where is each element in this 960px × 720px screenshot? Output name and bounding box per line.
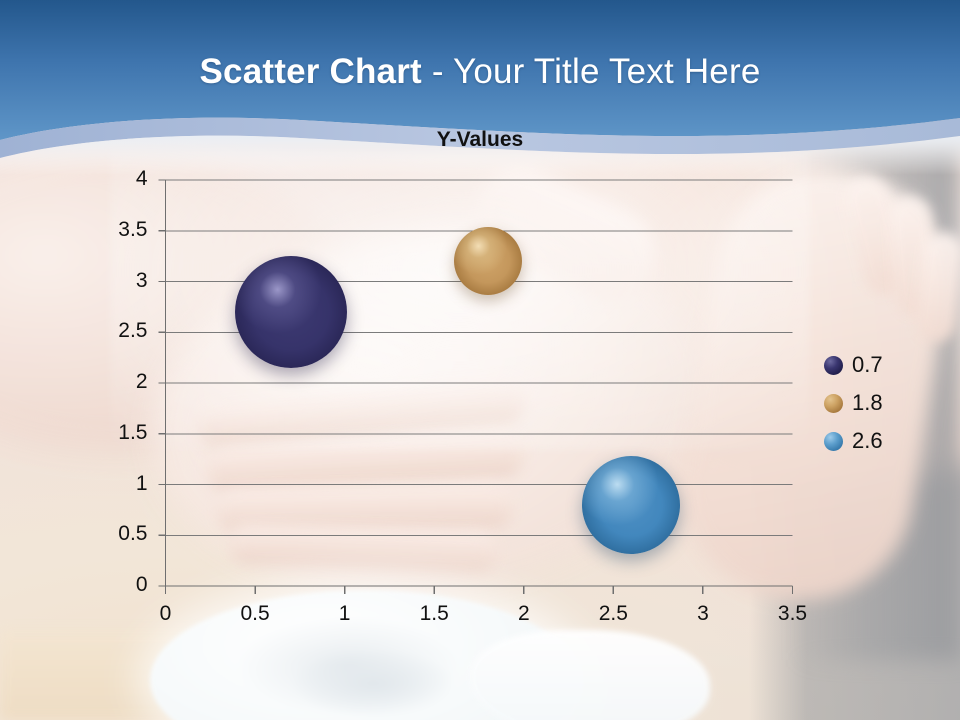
y-axis-tick-label: 1.5 — [108, 421, 148, 445]
y-axis-tick-label: 1 — [108, 472, 148, 496]
x-axis-tick-label: 3 — [673, 602, 733, 626]
legend-item[interactable]: 1.8 — [824, 384, 944, 422]
legend-marker-icon — [824, 356, 843, 375]
y-axis-tick-label: 3 — [108, 269, 148, 293]
x-axis-tick-label: 3.5 — [763, 602, 823, 626]
x-axis-tick-label: 1.5 — [404, 602, 464, 626]
legend-label: 0.7 — [852, 354, 883, 376]
y-axis-tick-label: 0 — [108, 573, 148, 597]
legend-marker-icon — [824, 394, 843, 413]
x-axis-tick-label: 2.5 — [583, 602, 643, 626]
data-point-bubble[interactable] — [454, 227, 522, 295]
slide-canvas: Scatter Chart - Your Title Text Here Y-V… — [0, 0, 960, 720]
x-axis-tick-label: 1 — [315, 602, 375, 626]
y-axis-tick-label: 4 — [108, 167, 148, 191]
legend-marker-icon — [824, 432, 843, 451]
x-axis-tick-label: 0 — [136, 602, 196, 626]
x-axis-tick-label: 2 — [494, 602, 554, 626]
data-point-bubble[interactable] — [235, 256, 347, 368]
chart-legend: 0.7 1.8 2.6 — [824, 346, 944, 460]
y-axis-tick-label: 2 — [108, 370, 148, 394]
y-axis-tick-label: 2.5 — [108, 319, 148, 343]
legend-label: 2.6 — [852, 430, 883, 452]
data-point-bubble[interactable] — [582, 456, 680, 554]
legend-item[interactable]: 0.7 — [824, 346, 944, 384]
legend-item[interactable]: 2.6 — [824, 422, 944, 460]
x-axis-tick-label: 0.5 — [225, 602, 285, 626]
y-axis-tick-label: 0.5 — [108, 522, 148, 546]
legend-label: 1.8 — [852, 392, 883, 414]
y-axis-tick-label: 3.5 — [108, 218, 148, 242]
